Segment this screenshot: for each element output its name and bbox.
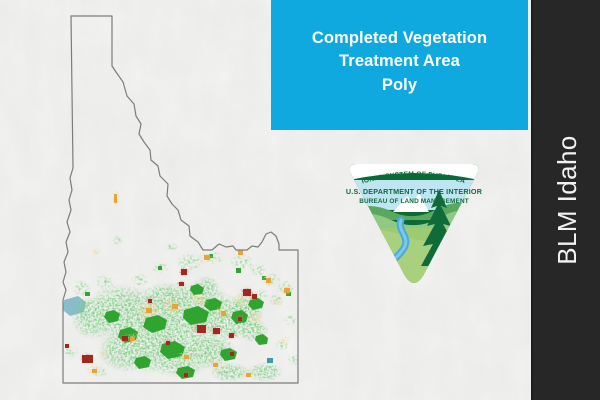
- poster-root: Completed Vegetation Treatment Area Poly: [0, 0, 600, 400]
- sidebar-title-label: BLM Idaho: [533, 0, 600, 400]
- blm-logo[interactable]: NATIONAL SYSTEM OF PUBLIC LANDS U.S. DEP…: [335, 160, 493, 297]
- blm-seal-icon: NATIONAL SYSTEM OF PUBLIC LANDS U.S. DEP…: [335, 160, 493, 297]
- right-sidebar: BLM Idaho: [531, 0, 600, 400]
- seal-agency-line2: BUREAU OF LAND MANAGEMENT: [359, 198, 469, 205]
- map-title-banner: Completed Vegetation Treatment Area Poly: [271, 0, 528, 130]
- map-title-text: Completed Vegetation Treatment Area Poly: [312, 27, 487, 97]
- seal-agency-line1: U.S. DEPARTMENT OF THE INTERIOR: [346, 187, 483, 196]
